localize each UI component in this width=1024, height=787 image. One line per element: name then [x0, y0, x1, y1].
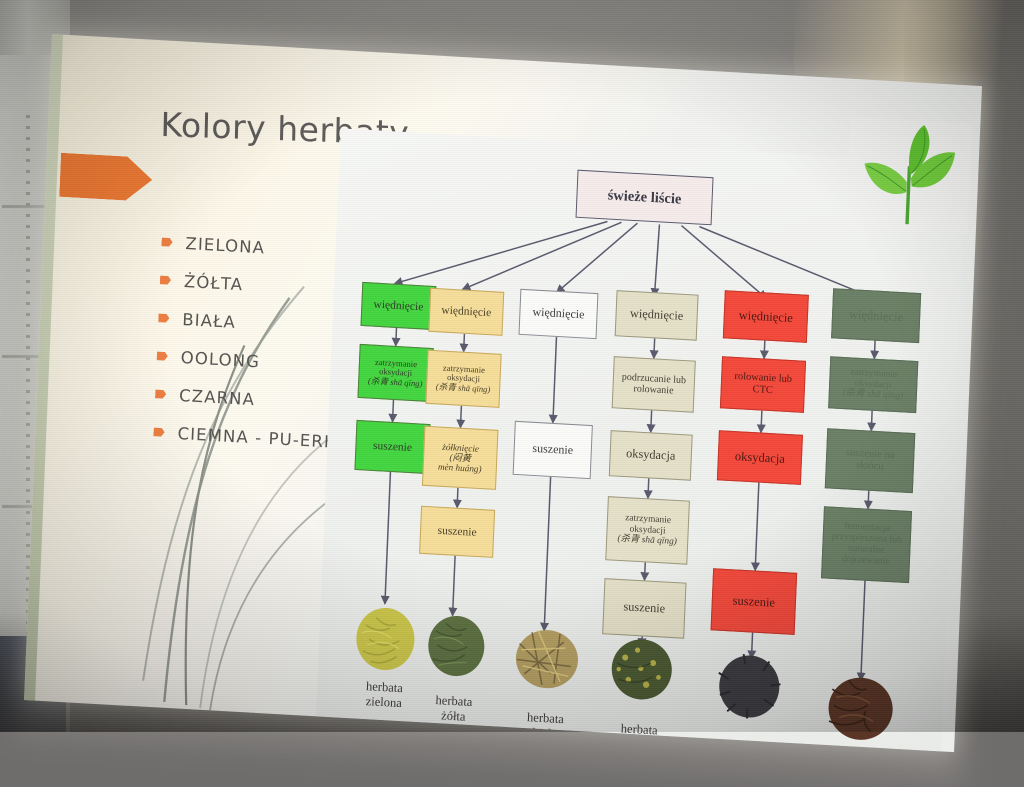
node-red-step1: więdnięcie — [723, 290, 809, 343]
tea-pile-oolong — [605, 634, 678, 704]
node-yellow-step3: żółknięcie (闷黄 mèn huáng) — [422, 426, 499, 490]
node-line-cjk: (杀青 shā qīng) — [436, 382, 491, 395]
bullet-marker-icon — [153, 427, 164, 437]
node-oolong-step1: więdnięcie — [615, 290, 699, 341]
node-root: świeże liście — [576, 170, 714, 226]
node-yellow-step2: zatrzymanie oksydacji (杀青 shā qīng) — [425, 350, 501, 408]
node-puer-step1: więdnięcie — [831, 288, 921, 343]
node-red-step4: suszenie — [711, 568, 798, 635]
list-item-label: OOLONG — [180, 347, 260, 370]
list-item-label: BIAŁA — [182, 309, 236, 331]
node-puer-step4: fermentacja przyspieszona lub naturalne … — [821, 506, 912, 583]
tea-pile-green — [350, 604, 421, 674]
node-line: dojrzewanie — [842, 554, 890, 568]
node-yellow-step4: suszenie — [419, 506, 495, 558]
node-red-step3: oksydacja — [717, 430, 803, 485]
node-oolong-step2: podrzucanie lub rolowanie — [612, 356, 696, 413]
tea-process-diagram: świeże liście więdnięcie zatrzymanie oks… — [316, 128, 966, 751]
node-line-cjk: (杀青 shā qīng) — [842, 388, 903, 402]
tea-pile-puer — [822, 673, 899, 745]
bullet-marker-icon — [155, 389, 166, 399]
tea-pile-black — [713, 651, 786, 723]
node-oolong-step5: suszenie — [602, 578, 686, 639]
node-puer-step3: suszenie na słońcu — [825, 428, 916, 493]
bullet-marker-icon — [161, 237, 172, 247]
node-line-cjk: (杀青 shā qīng) — [368, 376, 423, 389]
node-line: CTC — [752, 384, 773, 397]
node-line: rolowanie — [633, 383, 673, 396]
node-yellow-step1: więdnięcie — [428, 288, 504, 336]
node-green-step3: suszenie — [354, 420, 430, 474]
node-line-cjk: (杀青 shā qīng) — [617, 534, 677, 548]
bullet-marker-icon — [158, 313, 169, 323]
node-oolong-step4: zatrzymanie oksydacji (杀青 shā qīng) — [605, 496, 690, 565]
bullet-marker-icon — [157, 351, 168, 361]
tea-pile-white — [510, 623, 585, 693]
node-line-cjk: mèn huáng) — [438, 462, 482, 475]
node-line: słońcu — [856, 460, 884, 473]
bullet-marker-icon — [160, 275, 171, 285]
list-item-label: ZIELONA — [185, 233, 265, 256]
projected-slide: Kolory herbaty ZIELONA ŻÓŁTA BIAŁA OOLON… — [23, 34, 982, 776]
product-label-yellow: herbata żółta — [408, 692, 499, 728]
list-item-label: ŻÓŁTA — [184, 271, 244, 293]
node-white-step1: więdnięcie — [518, 289, 598, 339]
node-green-step1: więdnięcie — [360, 282, 436, 330]
node-white-step2: suszenie — [513, 421, 593, 479]
node-puer-step2: zatrzymanie oksydacji (杀青 shā qīng) — [828, 356, 918, 413]
tea-pile-yellow — [422, 612, 491, 680]
node-oolong-step3: oksydacja — [609, 430, 693, 481]
node-green-step2: zatrzymanie oksydacji (杀青 shā qīng) — [357, 344, 433, 402]
list-item-label: CIEMNA - PU-ERH — [177, 423, 338, 451]
list-item-label: CZARNA — [179, 385, 256, 408]
node-red-step2: rolowanie lub CTC — [720, 356, 806, 413]
